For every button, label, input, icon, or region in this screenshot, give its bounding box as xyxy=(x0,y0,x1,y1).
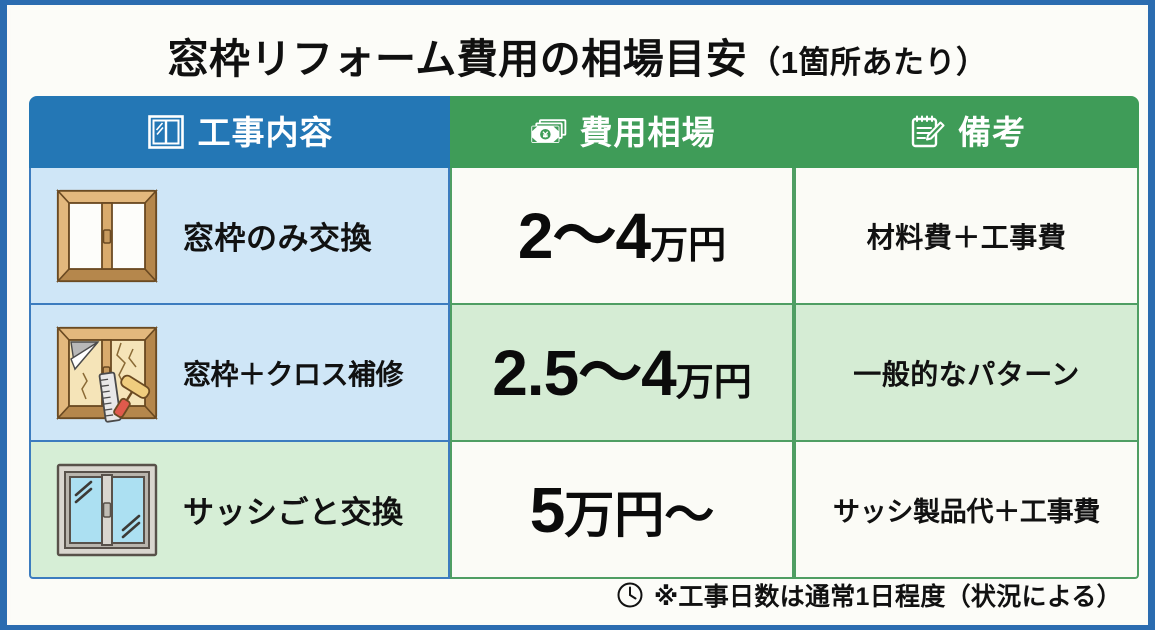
work-cell-2: 窓枠＋クロス補修 xyxy=(29,305,450,442)
page-title-main: 窓枠リフォーム費用の相場目安 xyxy=(167,25,747,85)
infographic-page: 窓枠リフォーム費用の相場目安（1箇所あたり） 工事内容 xyxy=(0,0,1155,630)
price-cell-2: 2.5〜4万円 xyxy=(450,305,794,442)
table-row: 窓枠＋クロス補修 2.5〜4万円 一般的なパターン xyxy=(29,305,1139,442)
price-number-2: 2.5〜4 xyxy=(492,341,676,405)
page-title: 窓枠リフォーム費用の相場目安（1箇所あたり） xyxy=(11,22,1144,88)
infographic-inner: 窓枠リフォーム費用の相場目安（1箇所あたり） 工事内容 xyxy=(11,8,1144,622)
table-row: サッシごと交換 5万円〜 サッシ製品代＋工事費 xyxy=(29,442,1139,579)
note-label-3: サッシ製品代＋工事費 xyxy=(833,490,1100,529)
price-number-3: 5 xyxy=(530,478,565,542)
price-unit-3: 万円〜 xyxy=(564,490,714,540)
header-label-note: 備考 xyxy=(958,116,1026,149)
footer-text: ※工事日数は通常1日程度（状況による） xyxy=(654,577,1122,613)
price-number-1: 2〜4 xyxy=(518,204,650,268)
price-unit-1: 万円 xyxy=(650,227,726,265)
header-label-price: 費用相場 xyxy=(580,116,716,149)
work-label-1: 窓枠のみ交換 xyxy=(183,213,372,258)
work-cell-1: 窓枠のみ交換 xyxy=(29,168,450,305)
header-label-work: 工事内容 xyxy=(198,116,334,149)
note-cell-1: 材料費＋工事費 xyxy=(794,168,1139,305)
note-label-1: 材料費＋工事費 xyxy=(867,216,1067,256)
window-icon xyxy=(146,112,186,152)
window-wallpaper-repair-icon xyxy=(53,323,161,423)
banknote-yen-icon xyxy=(529,112,569,152)
aluminum-sash-window-icon xyxy=(53,460,161,560)
work-label-3: サッシごと交換 xyxy=(183,487,404,532)
header-cell-note: 備考 xyxy=(794,96,1139,168)
header-cell-work: 工事内容 xyxy=(29,96,450,168)
header-cell-price: 費用相場 xyxy=(450,96,794,168)
clock-icon xyxy=(616,581,644,609)
note-cell-2: 一般的なパターン xyxy=(794,305,1139,442)
cost-table: 工事内容 xyxy=(29,96,1139,579)
price-cell-3: 5万円〜 xyxy=(450,442,794,579)
footer-note: ※工事日数は通常1日程度（状況による） xyxy=(616,577,1122,613)
note-label-2: 一般的なパターン xyxy=(853,353,1080,393)
note-cell-3: サッシ製品代＋工事費 xyxy=(794,442,1139,579)
table-row: 窓枠のみ交換 2〜4万円 材料費＋工事費 xyxy=(29,168,1139,305)
work-cell-3: サッシごと交換 xyxy=(29,442,450,579)
work-label-2: 窓枠＋クロス補修 xyxy=(183,353,403,393)
notepad-pencil-icon xyxy=(907,112,947,152)
wooden-window-frame-icon xyxy=(53,186,161,286)
price-unit-2: 万円 xyxy=(676,364,752,402)
page-title-paren: （1箇所あたり） xyxy=(749,37,987,82)
table-header-row: 工事内容 xyxy=(29,96,1139,168)
price-cell-1: 2〜4万円 xyxy=(450,168,794,305)
